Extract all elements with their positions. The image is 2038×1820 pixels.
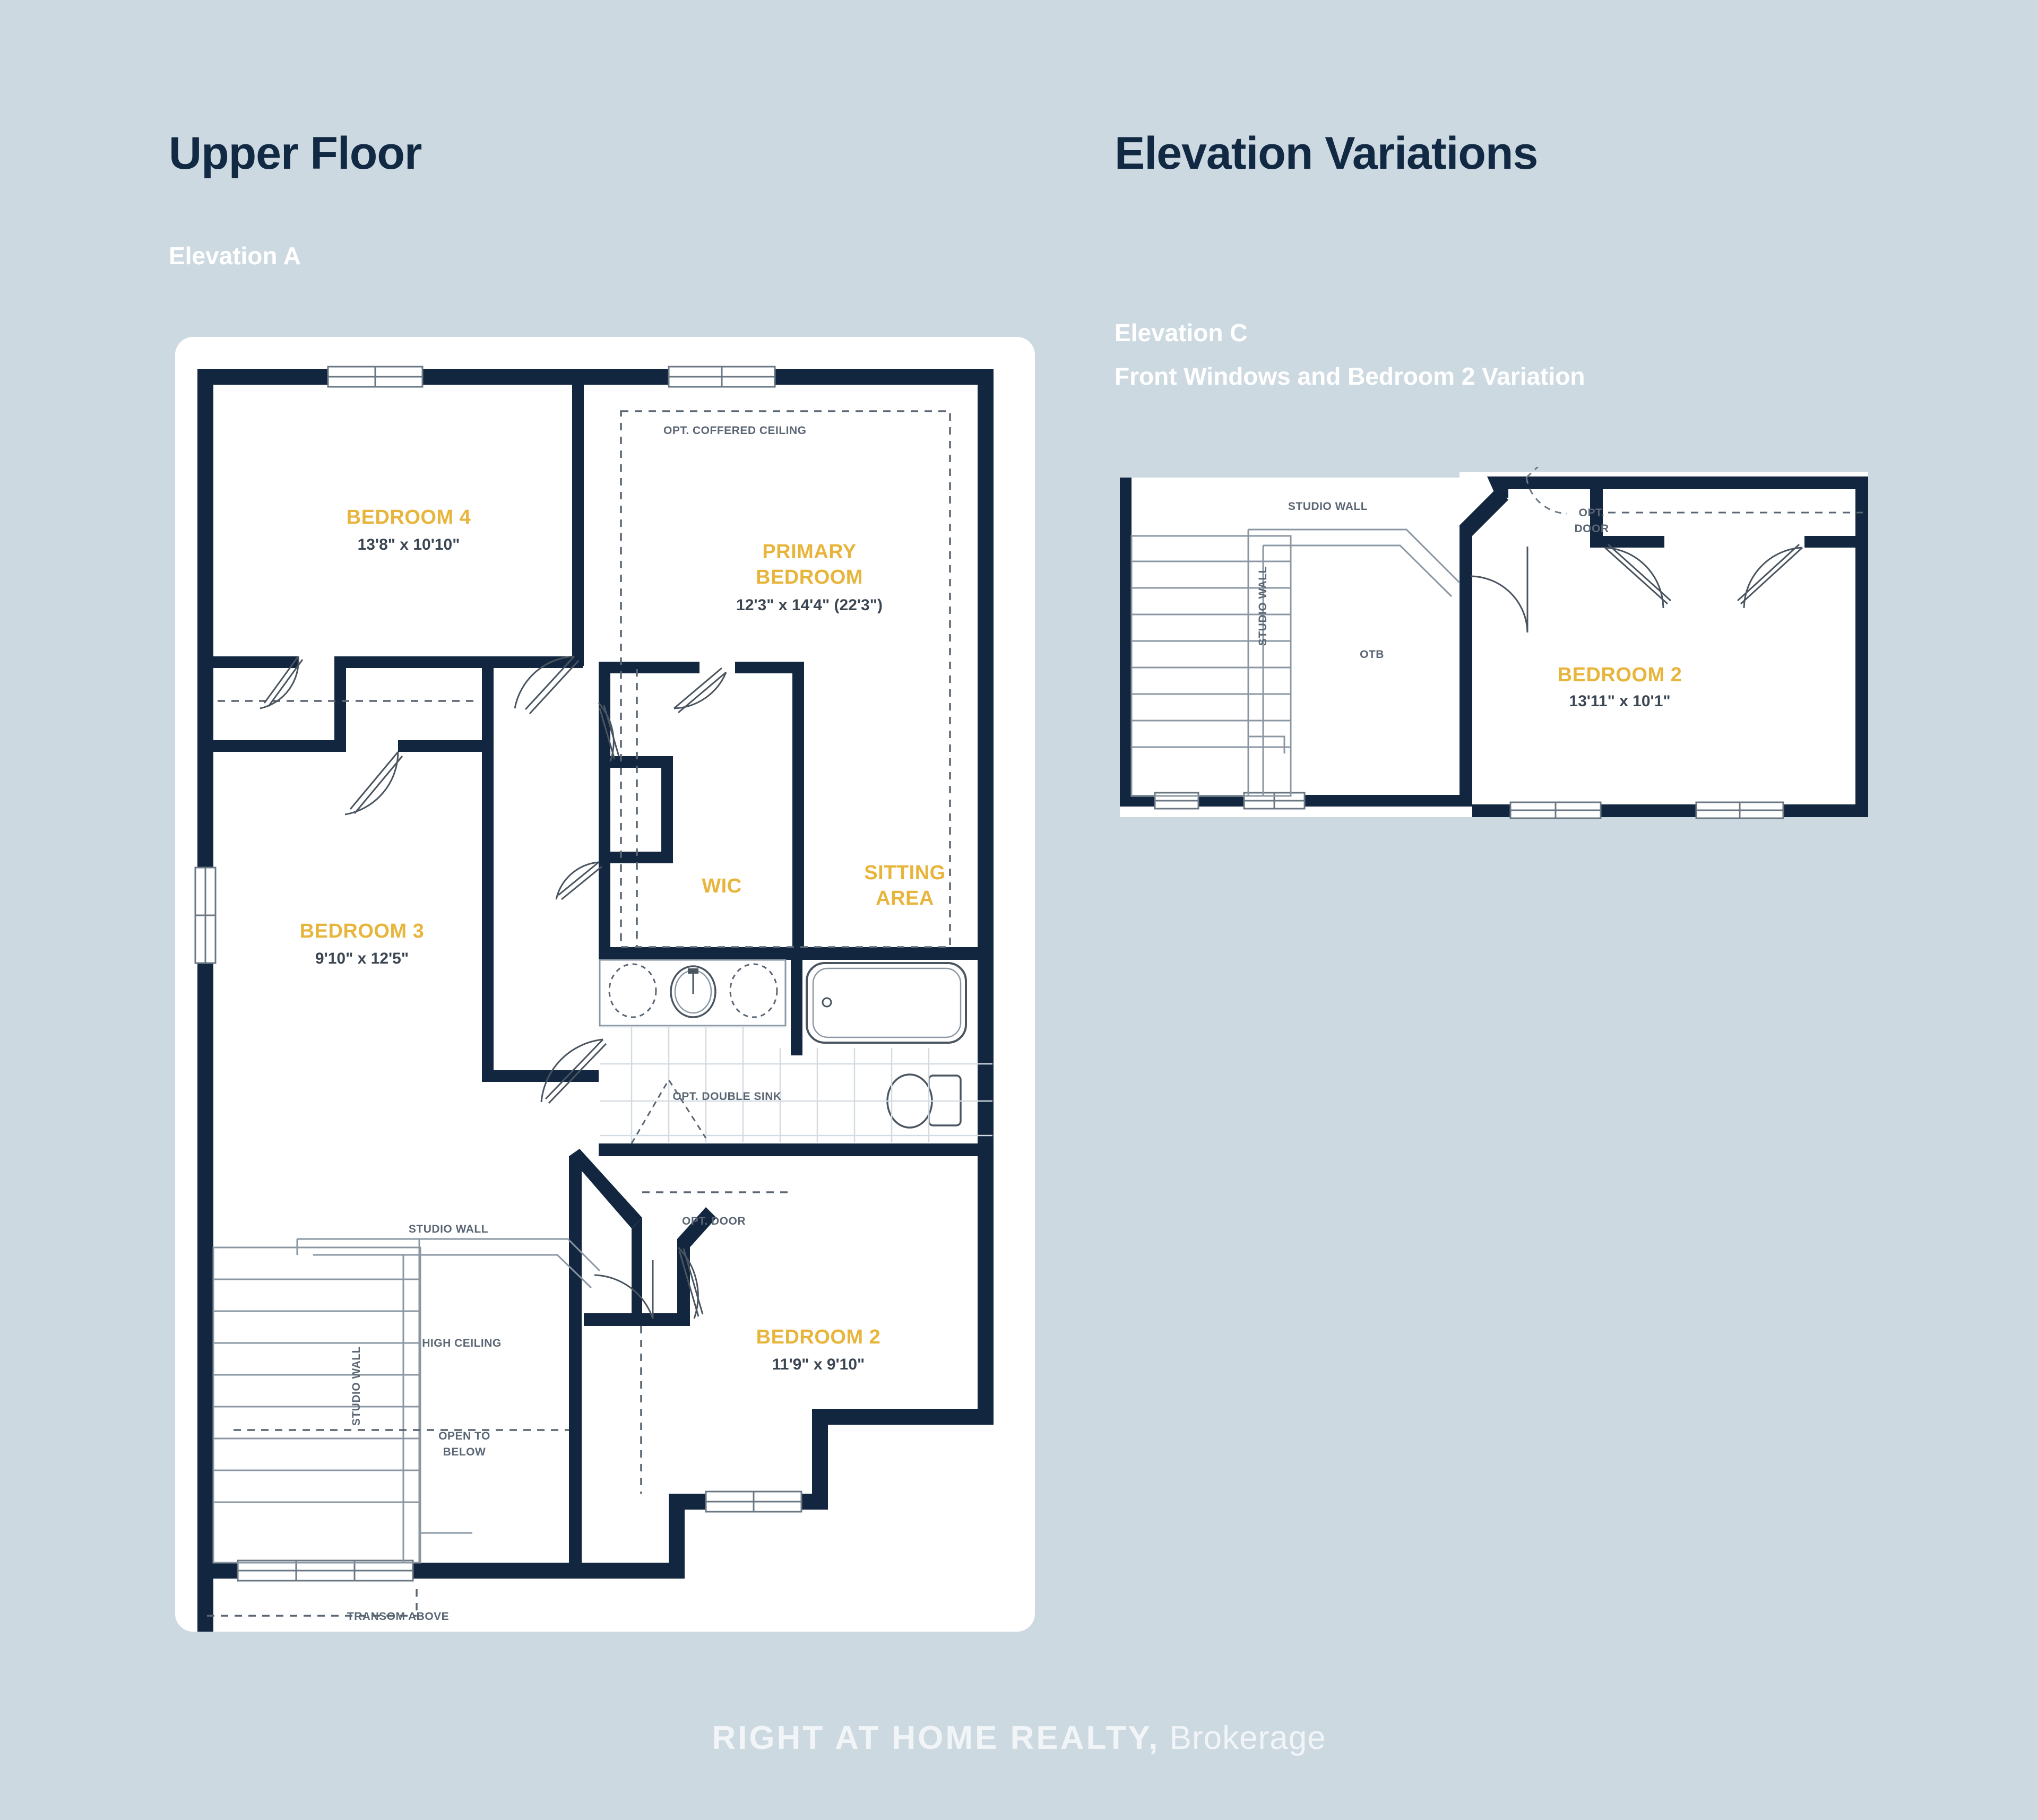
upper-floor-title: Upper Floor — [169, 127, 421, 180]
room-label-bedroom-2: BEDROOM 2 — [756, 1327, 881, 1349]
room-label-primary-bedroom-line2: BEDROOM — [756, 567, 863, 589]
watermark-main: RIGHT AT HOME REALTY, — [712, 1720, 1160, 1756]
note-opt-door-elevation-c-line2: DOOR — [1575, 523, 1609, 535]
floor-plan-page: Upper Floor Elevation A Elevation Variat… — [0, 0, 2038, 1820]
room-label-bedroom-2-elevation-c: BEDROOM 2 — [1558, 664, 1682, 687]
note-opt-door-elevation-c-line1: OPT. — [1579, 507, 1605, 519]
note-high-ceiling: HIGH CEILING — [422, 1337, 502, 1350]
elevation-c-subtitle: Elevation C — [1115, 318, 1248, 347]
upper-floor-plan-drawing — [175, 337, 1035, 1632]
room-dimensions-bedroom-4: 13'8" x 10'10" — [358, 536, 460, 554]
note-otb: OTB — [1360, 648, 1384, 661]
note-opt-coffered-ceiling: OPT. COFFERED CEILING — [663, 424, 807, 437]
upper-floor-subtitle: Elevation A — [169, 241, 301, 270]
note-open-to-below-line2: BELOW — [443, 1446, 486, 1459]
note-studio-wall-horizontal: STUDIO WALL — [409, 1223, 488, 1236]
note-opt-double-sink: OPT. DOUBLE SINK — [672, 1090, 781, 1103]
room-label-sitting-area-line2: AREA — [876, 888, 934, 910]
note-studio-wall-vertical: STUDIO WALL — [350, 1322, 363, 1450]
watermark-suffix: Brokerage — [1160, 1720, 1326, 1756]
room-label-sitting-area-line1: SITTING — [864, 862, 945, 885]
elevation-c-description: Front Windows and Bedroom 2 Variation — [1115, 362, 1585, 391]
elevation-c-plan-drawing — [1109, 467, 1879, 849]
room-dimensions-bedroom-2-elevation-c: 13'11" x 10'1" — [1569, 692, 1670, 710]
room-dimensions-primary-bedroom: 12'3" x 14'4" (22'3") — [736, 596, 883, 614]
room-dimensions-bedroom-2: 11'9" x 9'10" — [772, 1356, 865, 1374]
room-label-wic: WIC — [702, 876, 741, 898]
note-studio-wall-vertical-elevation-c: STUDIO WALL — [1257, 548, 1270, 664]
room-label-bedroom-3: BEDROOM 3 — [300, 921, 425, 943]
room-dimensions-bedroom-3: 9'10" x 12'5" — [315, 950, 409, 968]
brokerage-watermark: RIGHT AT HOME REALTY, Brokerage — [712, 1719, 1326, 1757]
note-studio-wall-horizontal-elevation-c: STUDIO WALL — [1288, 500, 1368, 513]
note-open-to-below-line1: OPEN TO — [438, 1430, 490, 1443]
note-transom-above: TRANSOM ABOVE — [347, 1610, 449, 1623]
room-label-primary-bedroom-line1: PRIMARY — [762, 541, 856, 564]
note-opt-door-plan-a: OPT. DOOR — [682, 1215, 746, 1228]
elevation-variations-title: Elevation Variations — [1115, 127, 1538, 180]
room-label-bedroom-4: BEDROOM 4 — [347, 507, 471, 529]
